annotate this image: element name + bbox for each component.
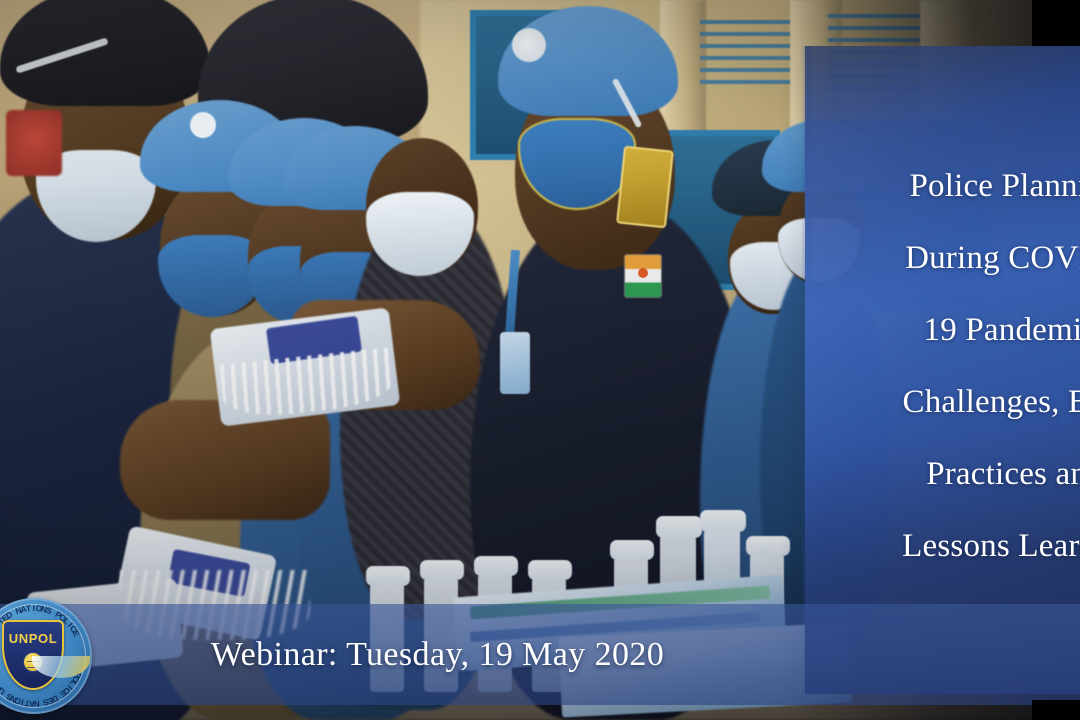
black-corner-bottom-right: [1032, 700, 1080, 720]
title-line-4: Challenges, Best: [805, 366, 1080, 438]
slide-title: Police Planning During COVID- 19 Pandemi…: [805, 150, 1080, 582]
unpol-badge: UNITED NATIONS POLICE POLICE DES NATIONS…: [0, 598, 92, 714]
webinar-promo-slide: Police Planning During COVID- 19 Pandemi…: [0, 0, 1080, 720]
badge-unpol-text: UNPOL: [4, 631, 62, 646]
webinar-date-caption: Webinar: Tuesday, 19 May 2020: [0, 604, 805, 705]
title-line-6: Lessons Learned: [805, 510, 1080, 582]
black-corner-top-right: [1032, 0, 1080, 46]
title-line-3: 19 Pandemic:: [805, 294, 1080, 366]
title-line-2: During COVID-: [805, 222, 1080, 294]
title-line-5: Practices and: [805, 438, 1080, 510]
title-line-1: Police Planning: [805, 150, 1080, 222]
